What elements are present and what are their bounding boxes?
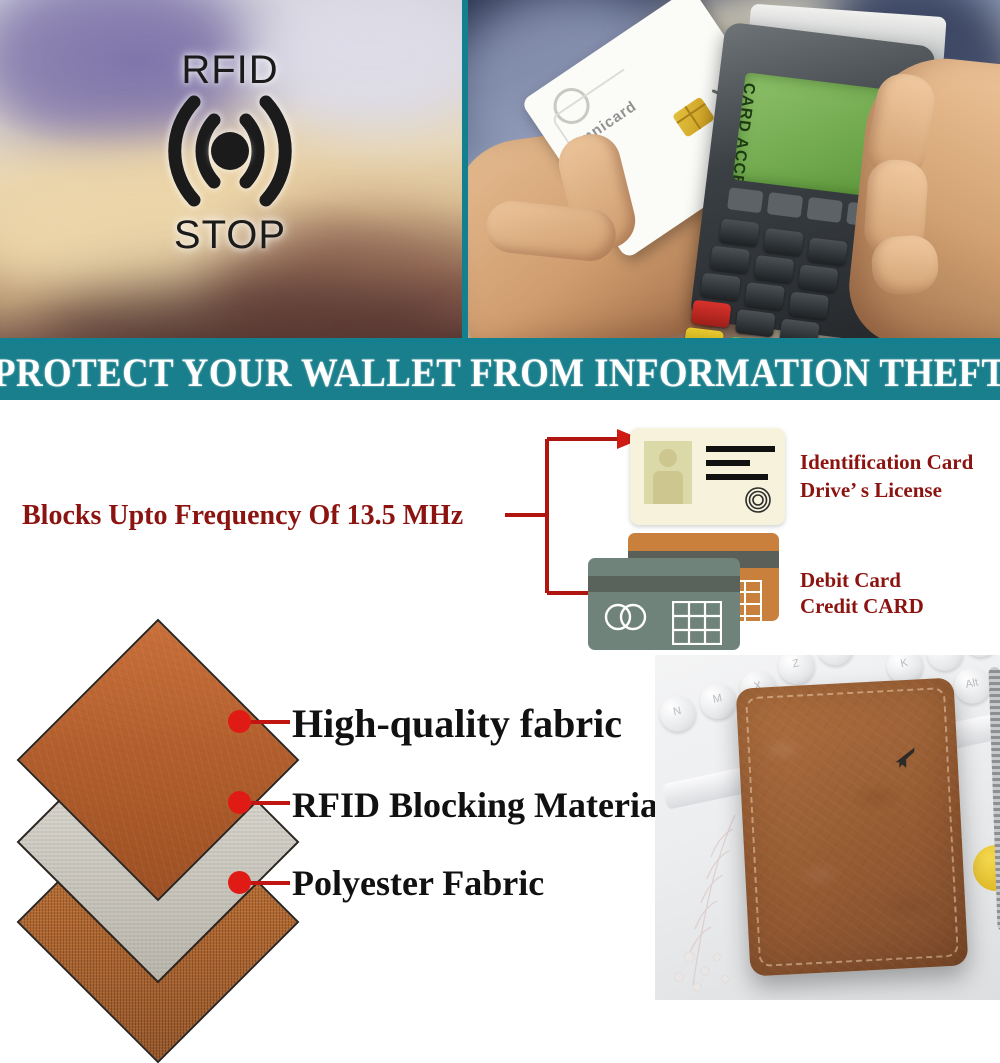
credit-card-label: Credit CARD [800, 594, 924, 619]
keypad-key [700, 273, 741, 301]
nav-key [806, 197, 842, 223]
keypad-key [710, 246, 751, 274]
card-chip-icon [672, 96, 715, 137]
card-logo-rings-icon [602, 602, 652, 632]
nav-key [767, 192, 803, 218]
leather-wallet [736, 677, 969, 976]
frequency-text: Blocks Upto Frequency Of 13.5 MHz [22, 500, 463, 532]
keyboard-key: N [656, 692, 699, 735]
product-photo: N M X Z C G H J K L O Alt [655, 655, 1000, 1000]
keypad-key [735, 309, 776, 337]
airplane-icon [891, 741, 923, 773]
person-head-icon [659, 449, 677, 467]
layer-label-rfid-blocking-material: RFID Blocking Material [292, 784, 668, 826]
keyboard-key: Z [775, 655, 818, 687]
keypad-key [744, 282, 785, 310]
id-text-bar [706, 460, 750, 466]
layer-leader-line [248, 720, 290, 724]
card-grid-pattern [672, 601, 722, 645]
keyboard-key: O [959, 655, 1000, 660]
keyboard-key: Alt [951, 664, 994, 707]
keyboard-key: C [814, 655, 857, 669]
magnetic-stripe [588, 576, 740, 592]
keypad-key [719, 218, 760, 246]
debit-card-graphic-front [588, 558, 740, 650]
rfid-stop-logo: RFID STOP [140, 48, 320, 263]
person-body-icon [653, 471, 683, 504]
rfid-signal-icon [150, 86, 310, 216]
keypad-key [779, 319, 820, 338]
wallet-zipper [988, 667, 1000, 931]
layer-leader-line [248, 881, 290, 885]
layer-label-polyester-fabric: Polyester Fabric [292, 862, 544, 904]
nav-key [727, 187, 763, 213]
id-text-bar [706, 474, 768, 480]
keyboard-key-label: L [926, 655, 964, 660]
wallet-stitching [745, 687, 959, 967]
keyboard-key-label: Z [777, 655, 815, 674]
layer-label-high-quality-fabric: High-quality fabric [292, 700, 622, 747]
headline-text: PROTECT YOUR WALLET FROM INFORMATION THE… [0, 349, 1000, 396]
finger [870, 234, 940, 296]
debit-card-label: Debit Card [800, 568, 901, 593]
keyboard-key-label: N [658, 702, 696, 721]
layer-marker-dot [228, 710, 251, 733]
pos-terminal-photo: omnicard CARD ACCESS DENIED [468, 0, 1000, 338]
keyboard-key-label: Alt [953, 674, 991, 693]
keypad-key [763, 228, 804, 256]
top-photo-strip: RFID STOP [0, 0, 1000, 344]
id-text-bar [706, 446, 775, 452]
keypad-key [807, 237, 848, 265]
identification-card-graphic [630, 428, 785, 525]
id-photo-placeholder [644, 441, 692, 504]
cancel-key [691, 300, 732, 328]
headline-banner: PROTECT YOUR WALLET FROM INFORMATION THE… [0, 344, 1000, 400]
layer-marker-dot [228, 791, 251, 814]
keypad-key [798, 264, 839, 292]
keyboard-key-label: M [699, 689, 737, 708]
keypad-key [754, 255, 795, 283]
terminal-screen-text: CARD ACCESS DENIED [733, 81, 761, 197]
layer-leader-line [248, 801, 290, 805]
infographic-canvas: RFID STOP [0, 0, 1000, 1000]
id-card-label-line2: Drive’ s License [800, 478, 942, 503]
keyboard-key-label: K [885, 655, 923, 673]
keypad-key [789, 292, 830, 320]
rfid-logo-bottom-word: STOP [140, 213, 320, 258]
id-card-label-line1: Identification Card [800, 450, 973, 475]
rfid-logo-photo: RFID STOP [0, 0, 462, 338]
keyboard-key: M [697, 680, 740, 723]
layer-marker-dot [228, 871, 251, 894]
rfid-chip-icon [744, 486, 772, 514]
